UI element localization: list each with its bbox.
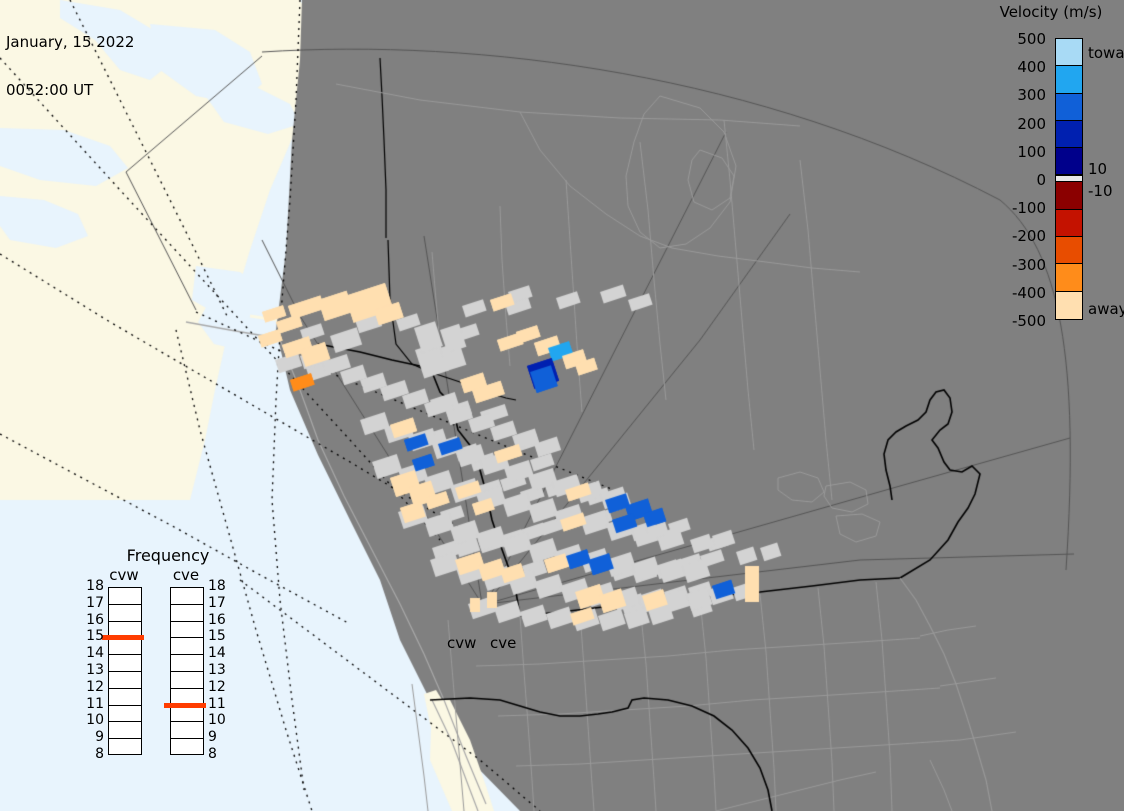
frequency-cell (109, 588, 141, 605)
frequency-cell (109, 655, 141, 672)
colorbar-segment-toward-4 (1056, 148, 1082, 175)
frequency-tick-cvw-17: 17 (82, 595, 104, 611)
colorbar-segment-away-4 (1056, 292, 1082, 319)
frequency-bar-cve (170, 587, 204, 755)
colorbar-segment-away-3 (1056, 264, 1082, 291)
colorbar-tick-0: 0 (978, 171, 1046, 189)
frequency-tick-cve-18: 18 (208, 578, 226, 594)
colorbar-tick-400: 400 (978, 58, 1046, 76)
colorbar-zero-band (1056, 175, 1082, 182)
frequency-tick-cvw-13: 13 (82, 662, 104, 678)
frequency-tick-cvw-9: 9 (82, 729, 104, 745)
colorbar-tick--200: -200 (978, 227, 1046, 245)
frequency-tick-cvw-15: 15 (82, 628, 104, 644)
frequency-cell (109, 706, 141, 723)
frequency-cell (109, 672, 141, 689)
frequency-cell (109, 739, 141, 756)
frequency-tick-cve-16: 16 (208, 612, 226, 628)
colorbar-tick--100: -100 (978, 199, 1046, 217)
colorbar-toward-label: toward (1088, 44, 1124, 62)
colorbar-away-label: away (1088, 300, 1124, 318)
frequency-cell (171, 706, 203, 723)
colorbar-lower-threshold: -10 (1088, 182, 1113, 200)
site-label-cve: cve (490, 634, 516, 652)
frequency-tick-cve-17: 17 (208, 595, 226, 611)
frequency-tick-cve-9: 9 (208, 729, 217, 745)
frequency-tick-cvw-8: 8 (82, 746, 104, 762)
frequency-bar-cvw (108, 587, 142, 755)
frequency-marker-cvw (102, 635, 144, 640)
frequency-tick-cve-14: 14 (208, 645, 226, 661)
site-label-cvw: cvw (447, 634, 476, 652)
frequency-tick-cve-8: 8 (208, 746, 217, 762)
frequency-cell (171, 588, 203, 605)
frequency-tick-cve-15: 15 (208, 628, 226, 644)
colorbar-segment-toward-3 (1056, 121, 1082, 148)
frequency-tick-cvw-10: 10 (82, 712, 104, 728)
colorbar-tick-300: 300 (978, 86, 1046, 104)
frequency-cell (109, 722, 141, 739)
frequency-legend: Frequency cvw18171615141312111098cve1817… (88, 546, 248, 792)
superdarn-map-view: January, 15 2022 0052:00 UT Velocity (m/… (0, 0, 1124, 811)
frequency-cell (171, 655, 203, 672)
frequency-cell (171, 739, 203, 756)
frequency-tick-cve-11: 11 (208, 696, 226, 712)
colorbar-tick-100: 100 (978, 143, 1046, 161)
frequency-marker-cve (164, 703, 206, 708)
colorbar-tick--500: -500 (978, 312, 1046, 330)
frequency-tick-cvw-14: 14 (82, 645, 104, 661)
colorbar-tick-200: 200 (978, 115, 1046, 133)
colorbar-segment-away-0 (1056, 182, 1082, 209)
frequency-cell (171, 605, 203, 622)
frequency-cell (171, 622, 203, 639)
frequency-tick-cvw-11: 11 (82, 696, 104, 712)
colorbar-segment-toward-1 (1056, 66, 1082, 93)
frequency-radar-name-cve: cve (156, 566, 216, 584)
timestamp-time: 0052:00 UT (6, 82, 134, 98)
timestamp: January, 15 2022 0052:00 UT (6, 2, 134, 130)
colorbar-title: Velocity (m/s) (978, 3, 1124, 21)
colorbar-segment-toward-2 (1056, 94, 1082, 121)
frequency-cell (171, 638, 203, 655)
frequency-tick-cvw-12: 12 (82, 679, 104, 695)
frequency-tick-cve-10: 10 (208, 712, 226, 728)
colorbar-tick--400: -400 (978, 284, 1046, 302)
colorbar-segment-toward-0 (1056, 39, 1082, 66)
colorbar-strip (1055, 38, 1083, 320)
frequency-cell (109, 605, 141, 622)
frequency-legend-title: Frequency (88, 546, 248, 565)
frequency-tick-cve-13: 13 (208, 662, 226, 678)
timestamp-date: January, 15 2022 (6, 34, 134, 50)
frequency-tick-cve-12: 12 (208, 679, 226, 695)
velocity-colorbar: Velocity (m/s) 5004003002001000-100-200-… (978, 0, 1124, 340)
colorbar-segment-away-1 (1056, 210, 1082, 237)
frequency-cell (171, 722, 203, 739)
frequency-cell (109, 689, 141, 706)
frequency-cell (109, 638, 141, 655)
colorbar-tick--300: -300 (978, 256, 1046, 274)
frequency-tick-cvw-18: 18 (82, 578, 104, 594)
colorbar-segment-away-2 (1056, 237, 1082, 264)
colorbar-upper-threshold: 10 (1088, 160, 1107, 178)
colorbar-tick-500: 500 (978, 30, 1046, 48)
frequency-cell (171, 672, 203, 689)
frequency-tick-cvw-16: 16 (82, 612, 104, 628)
